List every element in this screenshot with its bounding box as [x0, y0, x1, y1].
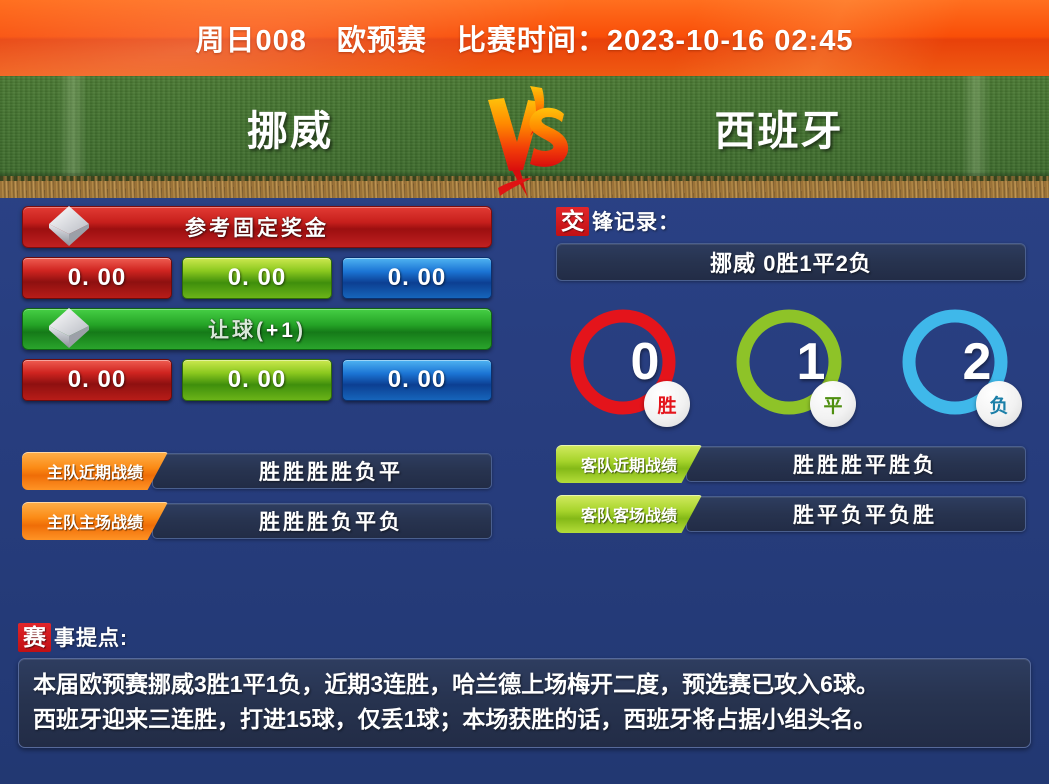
handicap-odd-win[interactable]: 0. 00 — [22, 359, 172, 401]
h2h-summary: 挪威 0胜1平2负 — [556, 243, 1026, 281]
h2h-rings: 0 胜 1 平 2 负 — [556, 303, 1026, 421]
away-recent-form-row: 客队近期战绩 胜胜胜平胜负 — [556, 445, 1026, 483]
notes-body: 本届欧预赛挪威3胜1平1负，近期3连胜，哈兰德上场梅开二度，预选赛已攻入6球。 … — [18, 658, 1031, 748]
fixed-odd-lose[interactable]: 0. 00 — [342, 257, 492, 299]
fixed-odds-header: 参考固定奖金 — [22, 206, 492, 248]
home-team-name: 挪威 — [150, 97, 430, 157]
match-info-banner: 周日008 欧预赛 比赛时间：2023-10-16 02:45 — [0, 0, 1049, 76]
handicap-title-suffix: ) — [296, 319, 306, 342]
h2h-win-label: 胜 — [657, 391, 676, 418]
h2h-win-label-pill: 胜 — [644, 381, 690, 427]
away-away-form-tag: 客队客场战绩 — [556, 495, 702, 533]
h2h-title-rest: 锋记录： — [592, 206, 680, 236]
h2h-title-badge: 交 — [556, 207, 589, 236]
fixed-odd-draw[interactable]: 0. 00 — [182, 257, 332, 299]
away-recent-form-tag: 客队近期战绩 — [556, 445, 702, 483]
h2h-section-title: 交 锋记录： — [556, 206, 1026, 236]
pitch-line-right — [963, 76, 989, 176]
h2h-draw-label-pill: 平 — [810, 381, 856, 427]
away-away-form-row: 客队客场战绩 胜平负平负胜 — [556, 495, 1026, 533]
h2h-draw-label: 平 — [823, 391, 842, 418]
h2h-ring-draw: 1 平 — [730, 303, 848, 421]
home-recent-form-value: 胜胜胜胜负平 — [152, 453, 492, 489]
away-away-form-value: 胜平负平负胜 — [686, 496, 1026, 532]
home-recent-form-row: 主队近期战绩 胜胜胜胜负平 — [22, 452, 492, 490]
handicap-odds-row: 0. 00 0. 00 0. 00 — [22, 359, 492, 401]
home-home-form-tag: 主队主场战绩 — [22, 502, 168, 540]
notes-section-title: 赛 事提点: — [18, 622, 1031, 652]
diamond-gem-icon — [43, 302, 95, 354]
notes-line-2: 西班牙迎来三连胜，打进15球，仅丢1球；本场获胜的话，西班牙将占据小组头名。 — [33, 702, 1016, 737]
handicap-odd-draw[interactable]: 0. 00 — [182, 359, 332, 401]
handicap-value: +1 — [266, 319, 296, 342]
away-recent-form-value: 胜胜胜平胜负 — [686, 446, 1026, 482]
h2h-ring-win: 0 胜 — [564, 303, 682, 421]
home-home-form-row: 主队主场战绩 胜胜胜负平负 — [22, 502, 492, 540]
odds-panel: 参考固定奖金 0. 00 0. 00 0. 00 让球(+1) 0. 00 0.… — [22, 206, 492, 552]
vs-flame-icon — [468, 78, 584, 200]
notes-line-1: 本届欧预赛挪威3胜1平1负，近期3连胜，哈兰德上场梅开二度，预选赛已攻入6球。 — [33, 667, 1016, 702]
match-notes-panel: 赛 事提点: 本届欧预赛挪威3胜1平1负，近期3连胜，哈兰德上场梅开二度，预选赛… — [18, 622, 1031, 748]
pitch-line-left — [60, 76, 86, 176]
away-team-name: 西班牙 — [639, 97, 919, 157]
notes-title-rest: 事提点: — [54, 622, 128, 652]
fixed-odds-row: 0. 00 0. 00 0. 00 — [22, 257, 492, 299]
fixed-odds-title: 参考固定奖金 — [185, 212, 329, 242]
handicap-title: 让球(+1) — [208, 314, 306, 344]
handicap-title-prefix: 让球( — [208, 319, 266, 342]
match-preview-page: 周日008 欧预赛 比赛时间：2023-10-16 02:45 挪威 西班牙 — [0, 0, 1049, 784]
fixed-odd-win[interactable]: 0. 00 — [22, 257, 172, 299]
h2h-lose-label: 负 — [989, 391, 1008, 418]
home-recent-form-tag: 主队近期战绩 — [22, 452, 168, 490]
diamond-gem-icon — [43, 200, 95, 252]
handicap-header: 让球(+1) — [22, 308, 492, 350]
notes-title-badge: 赛 — [18, 623, 51, 652]
handicap-odd-lose[interactable]: 0. 00 — [342, 359, 492, 401]
h2h-lose-label-pill: 负 — [976, 381, 1022, 427]
match-info-text: 周日008 欧预赛 比赛时间：2023-10-16 02:45 — [0, 0, 1049, 76]
h2h-ring-lose: 2 负 — [896, 303, 1014, 421]
home-home-form-value: 胜胜胜负平负 — [152, 503, 492, 539]
h2h-panel: 交 锋记录： 挪威 0胜1平2负 0 胜 1 平 — [556, 206, 1026, 545]
